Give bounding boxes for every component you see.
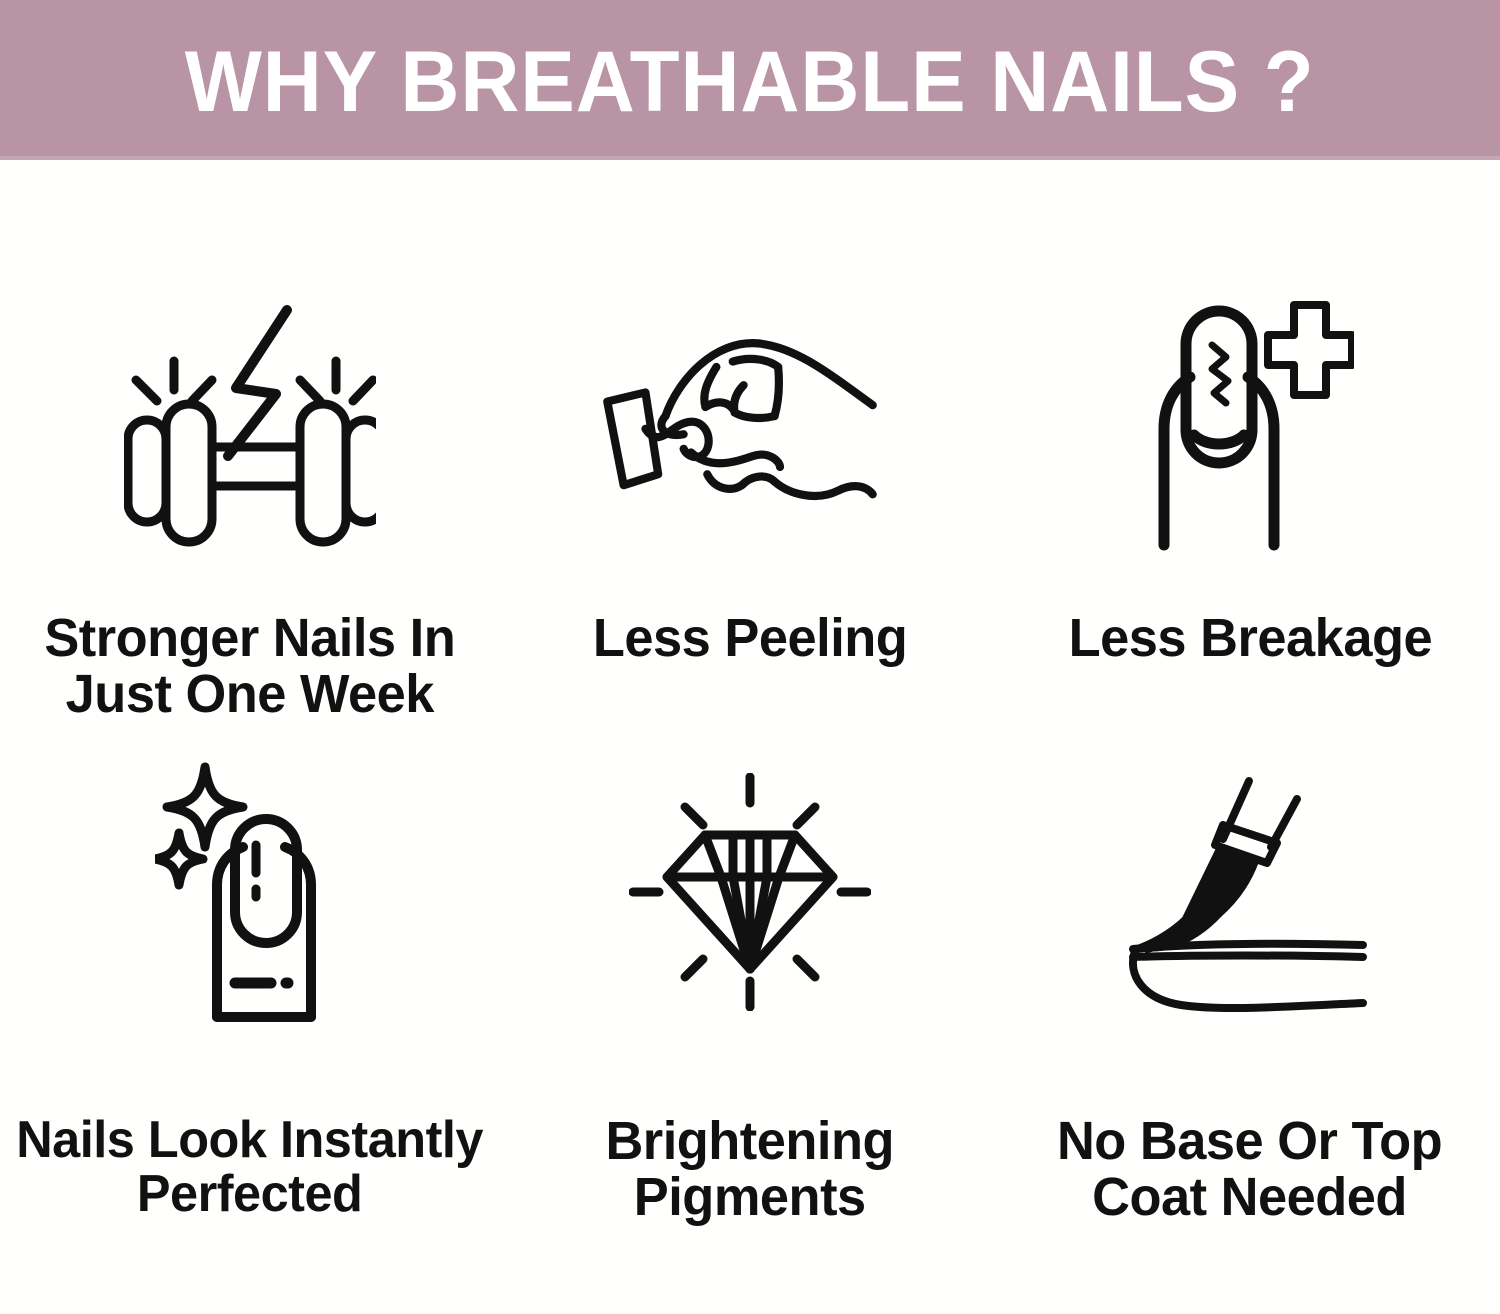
- feature-label: Stronger Nails In Just One Week: [45, 610, 456, 722]
- feature-card-nails-perfected: Nails Look Instantly Perfected: [0, 737, 500, 1314]
- feature-label: Less Peeling: [593, 610, 907, 666]
- cracked-nail-plus-icon: [1100, 302, 1400, 552]
- feature-label: No Base Or Top Coat Needed: [1057, 1113, 1442, 1225]
- polish-brush-nail-icon: [1100, 767, 1400, 1017]
- feature-grid: Stronger Nails In Just One Week: [0, 160, 1500, 1314]
- infographic-page: WHY BREATHABLE NAILS ?: [0, 0, 1500, 1314]
- hand-peeling-strip-icon: [600, 302, 900, 552]
- dumbbell-lightning-icon: [100, 302, 400, 552]
- feature-card-stronger-nails: Stronger Nails In Just One Week: [0, 160, 500, 737]
- page-title: WHY BREATHABLE NAILS ?: [185, 39, 1315, 125]
- shining-diamond-icon: [600, 767, 900, 1017]
- header-band: WHY BREATHABLE NAILS ?: [0, 0, 1500, 160]
- feature-card-no-base-coat: No Base Or Top Coat Needed: [1000, 737, 1500, 1314]
- feature-card-less-breakage: Less Breakage: [1000, 160, 1500, 737]
- feature-label: Less Breakage: [1068, 610, 1432, 666]
- feature-card-less-peeling: Less Peeling: [500, 160, 1000, 737]
- feature-card-brightening-pigments: Brightening Pigments: [500, 737, 1000, 1314]
- sparkling-nail-icon: [100, 767, 400, 1017]
- feature-label: Nails Look Instantly Perfected: [17, 1113, 484, 1221]
- feature-label: Brightening Pigments: [606, 1113, 895, 1225]
